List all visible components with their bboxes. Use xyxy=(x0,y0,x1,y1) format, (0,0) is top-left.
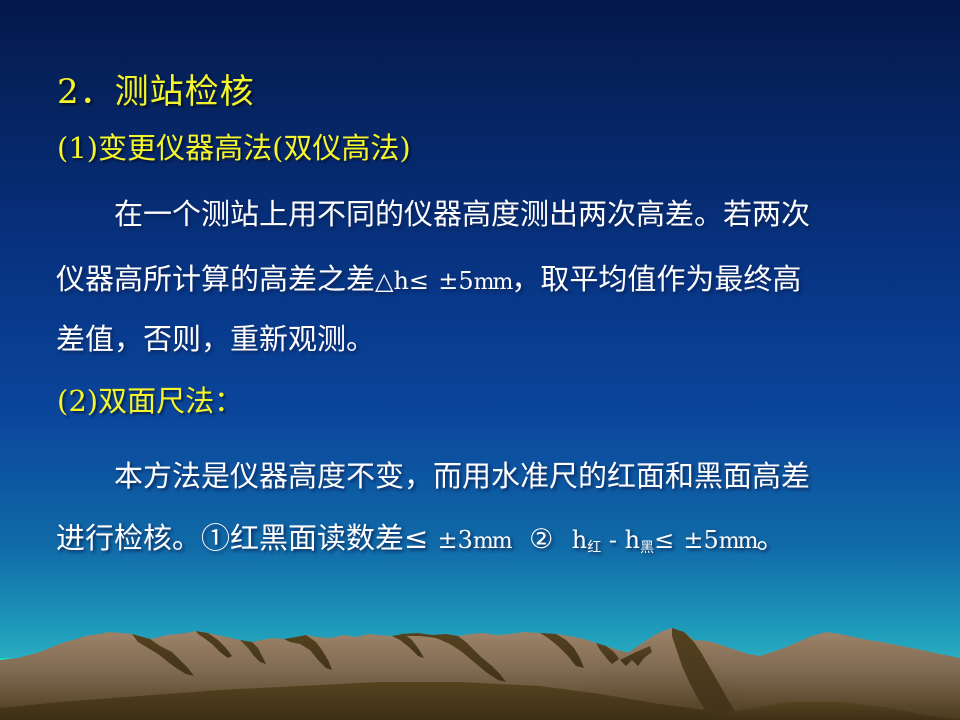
formula-subscript: 黑 xyxy=(640,540,654,556)
formula-run: ±5 xyxy=(683,526,718,554)
circled-number: ② xyxy=(529,524,553,555)
formula-run: △h≤ xyxy=(375,267,429,295)
paragraph-1-line-3: 差值，否则，重新观测。 xyxy=(56,325,375,354)
formula-run: h xyxy=(625,526,640,554)
paragraph-1-line-2: 仪器高所计算的高差之差△h≤ ±5mm，取平均值作为最终高 xyxy=(56,265,801,294)
text-run: 进行检核。①红黑面读数差≤ xyxy=(56,521,428,555)
formula-run: ±5 xyxy=(438,267,473,295)
formula-run: ±3 xyxy=(438,526,473,554)
text-run: 本方法是仪器高度不变，而用水准尺的红面和黑面高差 xyxy=(114,459,810,493)
paragraph-2-line-1: 本方法是仪器高度不变，而用水准尺的红面和黑面高差 xyxy=(56,462,810,491)
formula-run: - xyxy=(601,526,624,554)
unit-run: mm xyxy=(474,270,512,295)
text-run: 差值，否则，重新观测。 xyxy=(56,322,375,356)
spacer-run xyxy=(553,521,571,555)
subheading-two: (2)双面尺法： xyxy=(57,387,243,416)
unit-run: mm xyxy=(719,529,757,554)
unit-run: mm xyxy=(473,529,511,554)
spacer-run xyxy=(674,521,683,555)
mountain-range-illustration xyxy=(0,590,960,720)
text-run: 仪器高所计算的高差之差 xyxy=(56,262,375,296)
formula-subscript: 红 xyxy=(587,540,601,556)
slide-canvas: 2．测站检核 (1)变更仪器高法(双仪高法) 在一个测站上用不同的仪器高度测出两… xyxy=(0,0,960,720)
text-run: 。 xyxy=(757,521,786,555)
spacer-run xyxy=(511,521,529,555)
spacer-run xyxy=(429,262,438,296)
paragraph-1-line-1: 在一个测站上用不同的仪器高度测出两次高差。若两次 xyxy=(56,200,810,229)
text-run: 在一个测站上用不同的仪器高度测出两次高差。若两次 xyxy=(114,197,810,231)
formula-run: h xyxy=(572,526,587,554)
paragraph-2-line-2: 进行检核。①红黑面读数差≤ ±3mm ② h红 - h黑≤ ±5mm。 xyxy=(56,524,786,555)
subheading-one: (1)变更仪器高法(双仪高法) xyxy=(57,134,411,163)
text-run: ，取平均值作为最终高 xyxy=(511,262,801,296)
formula-run: ≤ xyxy=(654,526,674,554)
page-title: 2．测站检核 xyxy=(57,75,255,109)
spacer-run xyxy=(428,521,437,555)
